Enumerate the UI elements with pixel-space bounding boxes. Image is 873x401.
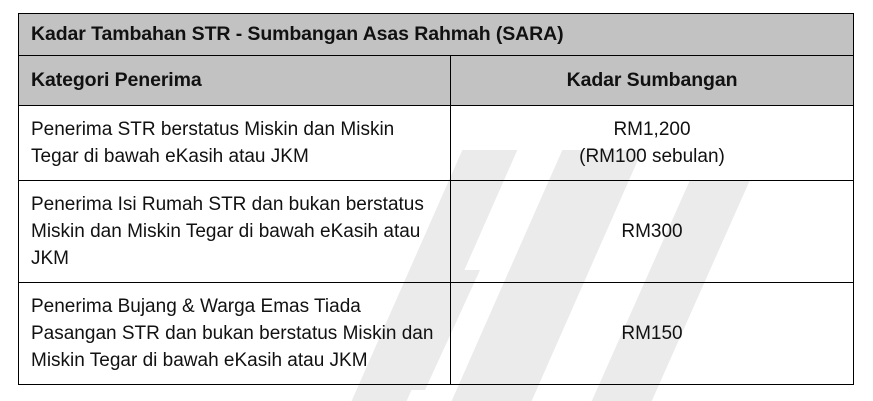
table-row: Penerima Isi Rumah STR dan bukan berstat… [19,181,854,283]
column-header-kadar-sumbangan: Kadar Sumbangan [451,56,854,106]
cell-kadar-1: RM1,200 (RM100 sebulan) [451,106,854,181]
table-header-row: Kategori Penerima Kadar Sumbangan [19,56,854,106]
table-row: Penerima STR berstatus Miskin dan Miskin… [19,106,854,181]
column-header-kategori-penerima: Kategori Penerima [19,56,451,106]
cell-kategori-3: Penerima Bujang & Warga Emas Tiada Pasan… [19,283,451,385]
cell-kadar-3: RM150 [451,283,854,385]
amount-secondary-1: (RM100 sebulan) [457,143,847,170]
cell-kadar-2: RM300 [451,181,854,283]
sara-rate-table-container: Kadar Tambahan STR - Sumbangan Asas Rahm… [18,13,853,385]
amount-primary-3: RM150 [457,320,847,347]
table-title-row: Kadar Tambahan STR - Sumbangan Asas Rahm… [19,14,854,56]
cell-kategori-1: Penerima STR berstatus Miskin dan Miskin… [19,106,451,181]
sara-rate-table: Kadar Tambahan STR - Sumbangan Asas Rahm… [18,13,854,385]
amount-group-3: RM150 [457,320,847,347]
amount-primary-2: RM300 [457,218,847,245]
table-row: Penerima Bujang & Warga Emas Tiada Pasan… [19,283,854,385]
amount-group-1: RM1,200 (RM100 sebulan) [457,116,847,170]
cell-kategori-2: Penerima Isi Rumah STR dan bukan berstat… [19,181,451,283]
amount-primary-1: RM1,200 [457,116,847,143]
page-root: Kadar Tambahan STR - Sumbangan Asas Rahm… [0,0,873,401]
amount-group-2: RM300 [457,218,847,245]
table-title: Kadar Tambahan STR - Sumbangan Asas Rahm… [19,14,854,56]
